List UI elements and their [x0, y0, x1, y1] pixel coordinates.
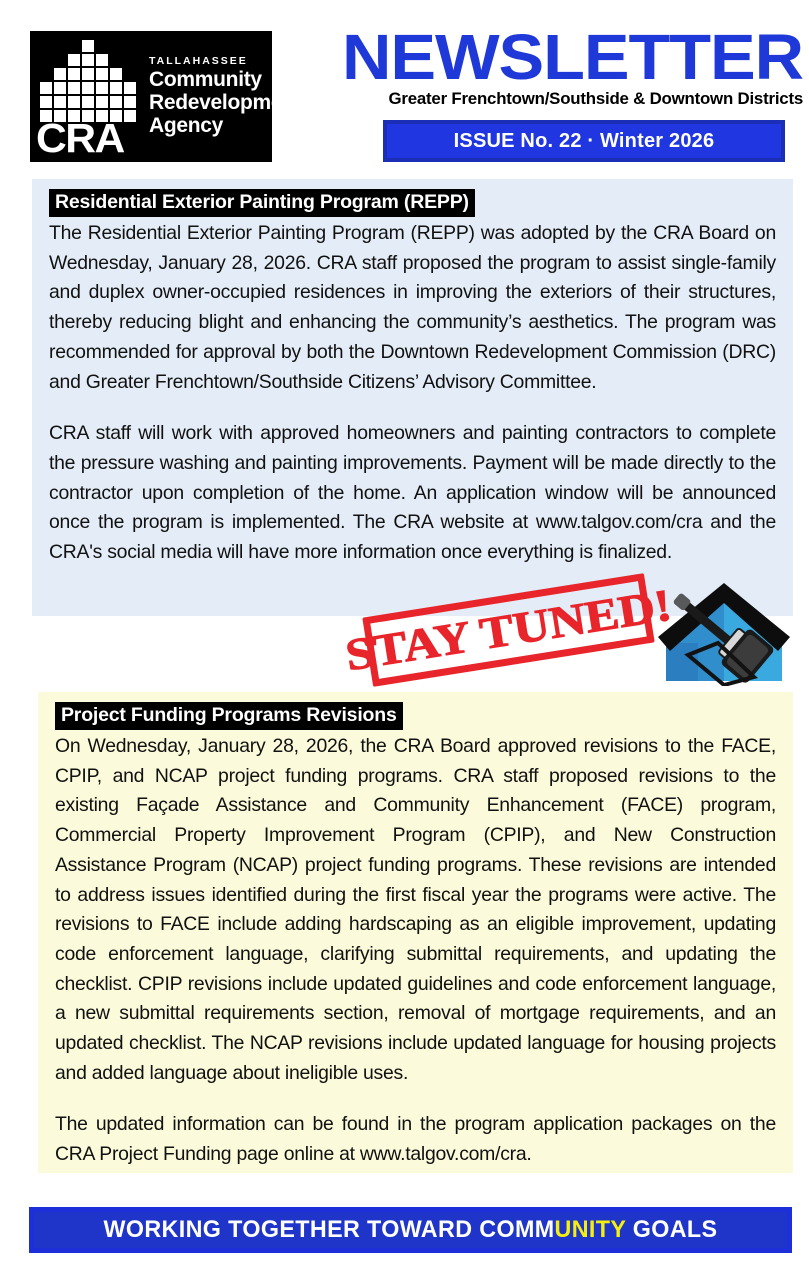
footer-tagline-highlight: UNITY — [555, 1216, 626, 1243]
masthead: CRA TALLAHASSEE Community Redevelopment … — [0, 0, 809, 172]
article-paragraph: CRA staff will work with approved homeow… — [49, 419, 776, 568]
footer-banner: WORKING TOGETHER TOWARD COMMUNITY GOALS — [29, 1207, 792, 1253]
cra-acronym: CRA — [36, 118, 144, 158]
skyline-pixel-grid — [40, 40, 136, 118]
page-subtitle: Greater Frenchtown/Southside & Downtown … — [249, 90, 803, 109]
page-title: NEWSLETTER — [241, 26, 803, 88]
footer-tagline-before: WORKING TOGETHER TOWARD COMM — [104, 1216, 555, 1243]
cra-logo: CRA TALLAHASSEE Community Redevelopment … — [30, 31, 272, 162]
article-paragraph: The updated information can be found in … — [55, 1110, 776, 1169]
footer-tagline: WORKING TOGETHER TOWARD COMMUNITY GOALS — [104, 1216, 718, 1244]
article-residential-exterior-painting-program: Residential Exterior Painting Program (R… — [32, 179, 793, 616]
article-paragraph: On Wednesday, January 28, 2026, the CRA … — [55, 732, 776, 1088]
logo-word-agency: Agency — [149, 114, 301, 137]
cra-building-skyline-logo: CRA — [36, 38, 140, 156]
footer-tagline-after: GOALS — [626, 1216, 718, 1243]
section-heading-repp: Residential Exterior Painting Program (R… — [49, 189, 475, 217]
footer-banner-inner: WORKING TOGETHER TOWARD COMMUNITY GOALS — [34, 1212, 787, 1248]
article-paragraph: The Residential Exterior Painting Progra… — [49, 219, 776, 397]
article-project-funding-programs-revisions: Project Funding Programs Revisions On We… — [38, 692, 793, 1173]
house-paint-roller-icon — [658, 581, 790, 686]
issue-banner: ISSUE No. 22 · Winter 2026 — [383, 120, 785, 162]
section-heading-funding: Project Funding Programs Revisions — [55, 702, 403, 730]
issue-banner-inner: ISSUE No. 22 · Winter 2026 — [387, 124, 781, 158]
issue-banner-label: ISSUE No. 22 · Winter 2026 — [454, 130, 715, 153]
